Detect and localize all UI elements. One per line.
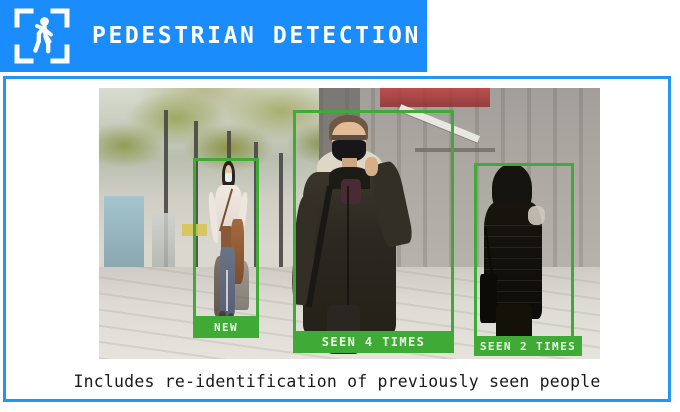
- detection-label-left: NEW: [193, 316, 259, 338]
- detection-label-right: SEEN 2 TIMES: [474, 336, 582, 356]
- street-scene: NEW SEEN 4 TIMES SEEN 2 TIMES: [99, 88, 600, 359]
- detection-label-center: SEEN 4 TIMES: [293, 331, 454, 353]
- header-title: PEDESTRIAN DETECTION: [92, 25, 421, 48]
- header-banner: PEDESTRIAN DETECTION: [0, 0, 427, 72]
- red-awning: [380, 88, 490, 107]
- screenshot-root: PEDESTRIAN DETECTION: [0, 0, 680, 412]
- content-card: NEW SEEN 4 TIMES SEEN 2 TIMES Includes r…: [3, 76, 671, 402]
- detection-box-right[interactable]: SEEN 2 TIMES: [474, 163, 574, 356]
- detection-photo: NEW SEEN 4 TIMES SEEN 2 TIMES: [99, 88, 600, 359]
- detection-box-left[interactable]: NEW: [193, 158, 259, 338]
- detection-box-center[interactable]: SEEN 4 TIMES: [293, 110, 454, 353]
- pedestrian-focus-frame-icon: [14, 8, 70, 64]
- caption-text: Includes re-identification of previously…: [6, 363, 668, 399]
